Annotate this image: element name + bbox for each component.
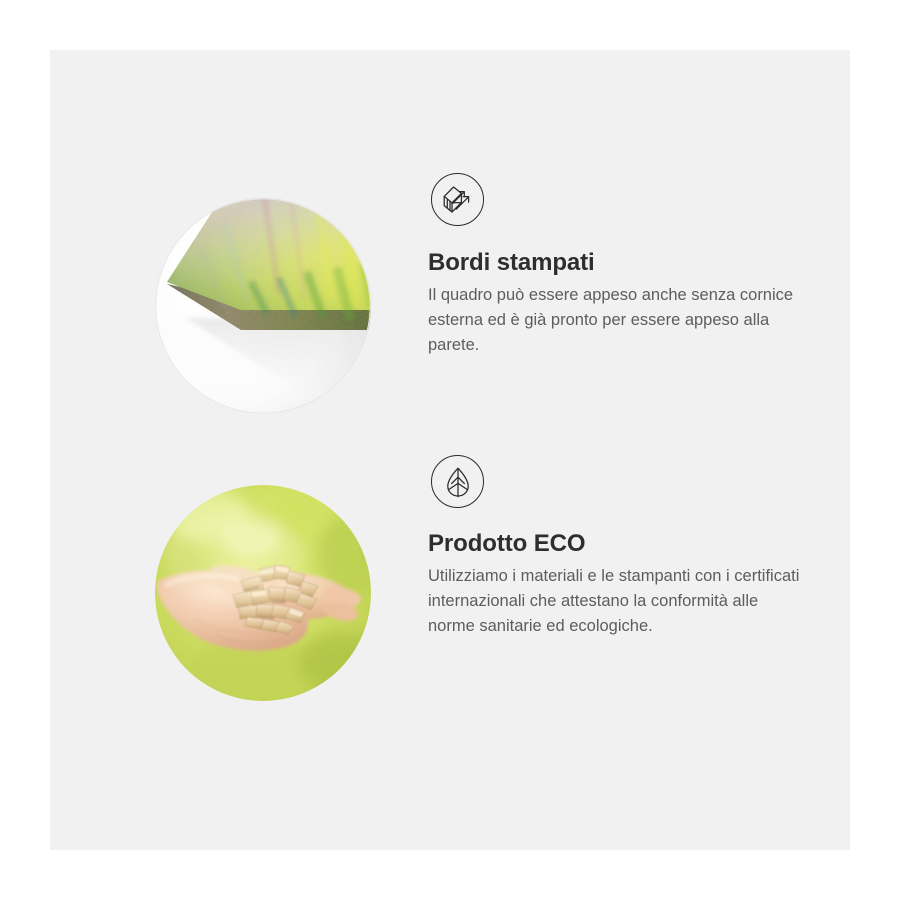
content-panel: Bordi stampati Il quadro può essere appe… [50,50,850,850]
canvas-edge-icon [431,173,484,226]
feature-title: Prodotto ECO [428,530,814,558]
product-feature-page: Bordi stampati Il quadro può essere appe… [0,0,900,900]
feature-block-eco-product: Prodotto ECO Utilizziamo i materiali e l… [50,433,850,763]
feature-text-column: Prodotto ECO Utilizziamo i materiali e l… [428,433,814,639]
feature-text-column: Bordi stampati Il quadro può essere appe… [428,148,814,358]
feature-description: Utilizziamo i materiali e le stampanti c… [428,564,800,639]
eco-photo [155,485,371,701]
feature-block-printed-edges: Bordi stampati Il quadro può essere appe… [50,148,850,478]
feature-description: Il quadro può essere appeso anche senza … [428,283,800,358]
canvas-photo [155,198,371,414]
leaf-icon [431,455,484,508]
feature-title: Bordi stampati [428,249,814,277]
